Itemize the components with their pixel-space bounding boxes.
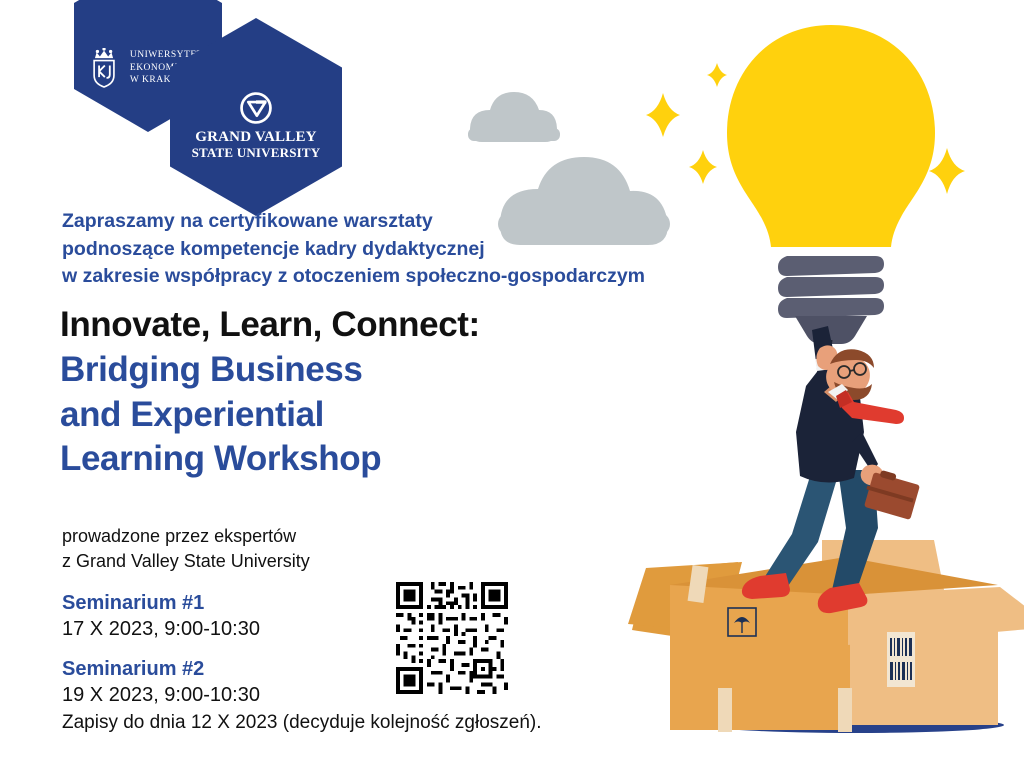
- poster-canvas: UNIWERSYTET EKONOMICZNY W KRAKOWIE GRAND…: [0, 0, 1024, 768]
- byline-line-1: prowadzone przez ekspertów: [62, 524, 462, 549]
- gvsu-line-2: STATE UNIVERSITY: [192, 145, 321, 161]
- cloud-icon-small: [468, 92, 560, 142]
- headline-line-4: Learning Workshop: [60, 437, 660, 482]
- uek-crest-icon: [90, 48, 123, 88]
- umbrella-fragile-icon: [728, 608, 756, 636]
- logo-stack: UNIWERSYTET EKONOMICZNY W KRAKOWIE GRAND…: [62, 0, 302, 210]
- sparkle-icon-group: [646, 63, 965, 194]
- briefcase-icon: [864, 470, 920, 520]
- gvsu-line-1: GRAND VALLEY: [195, 129, 316, 146]
- intro-paragraph: Zapraszamy na certyfikowane warsztaty po…: [62, 208, 642, 291]
- intro-line-1: Zapraszamy na certyfikowane warsztaty: [62, 208, 642, 236]
- glasses-icon: [838, 363, 866, 378]
- gvsu-mark-icon: [239, 91, 273, 125]
- cardboard-box: [628, 540, 1024, 732]
- byline-line-2: z Grand Valley State University: [62, 549, 462, 574]
- headline-line-1: Innovate, Learn, Connect:: [60, 303, 660, 348]
- box-shadow: [708, 717, 1004, 733]
- lightbulb-icon: [727, 25, 935, 372]
- intro-line-3: w zakresie współpracy z otoczeniem społe…: [62, 263, 642, 291]
- headline-block: Innovate, Learn, Connect: Bridging Busin…: [60, 303, 660, 482]
- barcode-label: [887, 632, 915, 687]
- qr-code-image[interactable]: [396, 582, 508, 694]
- headline-line-3: and Experiential: [60, 393, 660, 438]
- byline-block: prowadzone przez ekspertów z Grand Valle…: [62, 524, 462, 574]
- qr-code[interactable]: [396, 582, 508, 694]
- headline-line-2: Bridging Business: [60, 348, 660, 393]
- registration-deadline: Zapisy do dnia 12 X 2023 (decyduje kolej…: [62, 712, 702, 734]
- intro-line-2: podnoszące kompetencje kadry dydaktyczne…: [62, 236, 642, 264]
- businessman-figure: [742, 326, 920, 613]
